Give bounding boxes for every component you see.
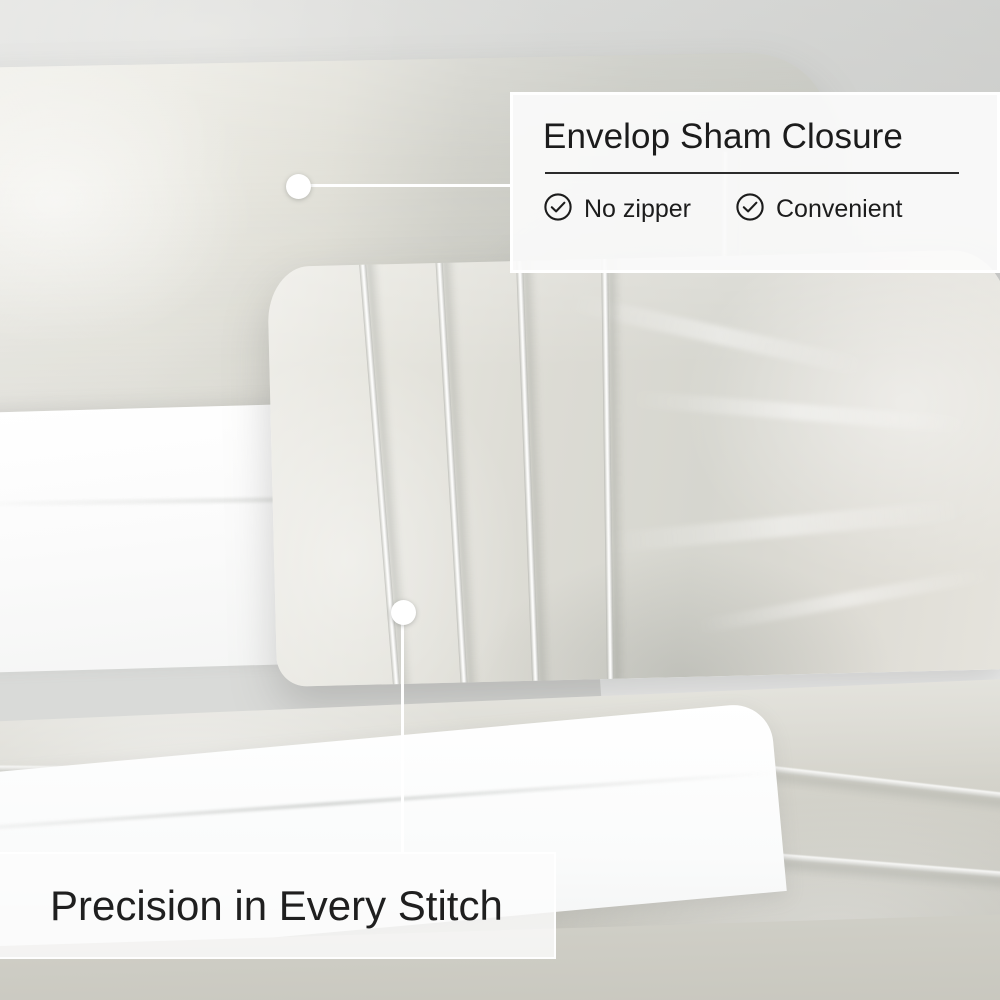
callout-title: Envelop Sham Closure bbox=[543, 119, 971, 156]
check-circle-icon bbox=[543, 192, 573, 227]
sheet-hem-line bbox=[0, 771, 776, 838]
callout-marker-bottom[interactable] bbox=[391, 600, 416, 625]
feature-item-convenient: Convenient bbox=[735, 192, 902, 227]
feature-item-no-zipper: No zipper bbox=[543, 192, 691, 227]
feature-label: Convenient bbox=[776, 195, 902, 224]
front-pleated-sham bbox=[267, 249, 1000, 687]
bottom-banner: Precision in Every Stitch bbox=[0, 852, 556, 959]
callout-divider bbox=[545, 172, 959, 174]
leader-line-bottom bbox=[401, 624, 404, 854]
check-circle-icon bbox=[735, 192, 765, 227]
product-feature-image: Envelop Sham Closure No zipper bbox=[0, 0, 1000, 1000]
banner-text: Precision in Every Stitch bbox=[0, 882, 503, 930]
callout-marker-top[interactable] bbox=[286, 174, 311, 199]
feature-callout-card: Envelop Sham Closure No zipper bbox=[510, 92, 1000, 273]
feature-label: No zipper bbox=[584, 195, 691, 224]
feature-list: No zipper Convenient bbox=[543, 192, 971, 227]
leader-line-top bbox=[310, 184, 512, 187]
